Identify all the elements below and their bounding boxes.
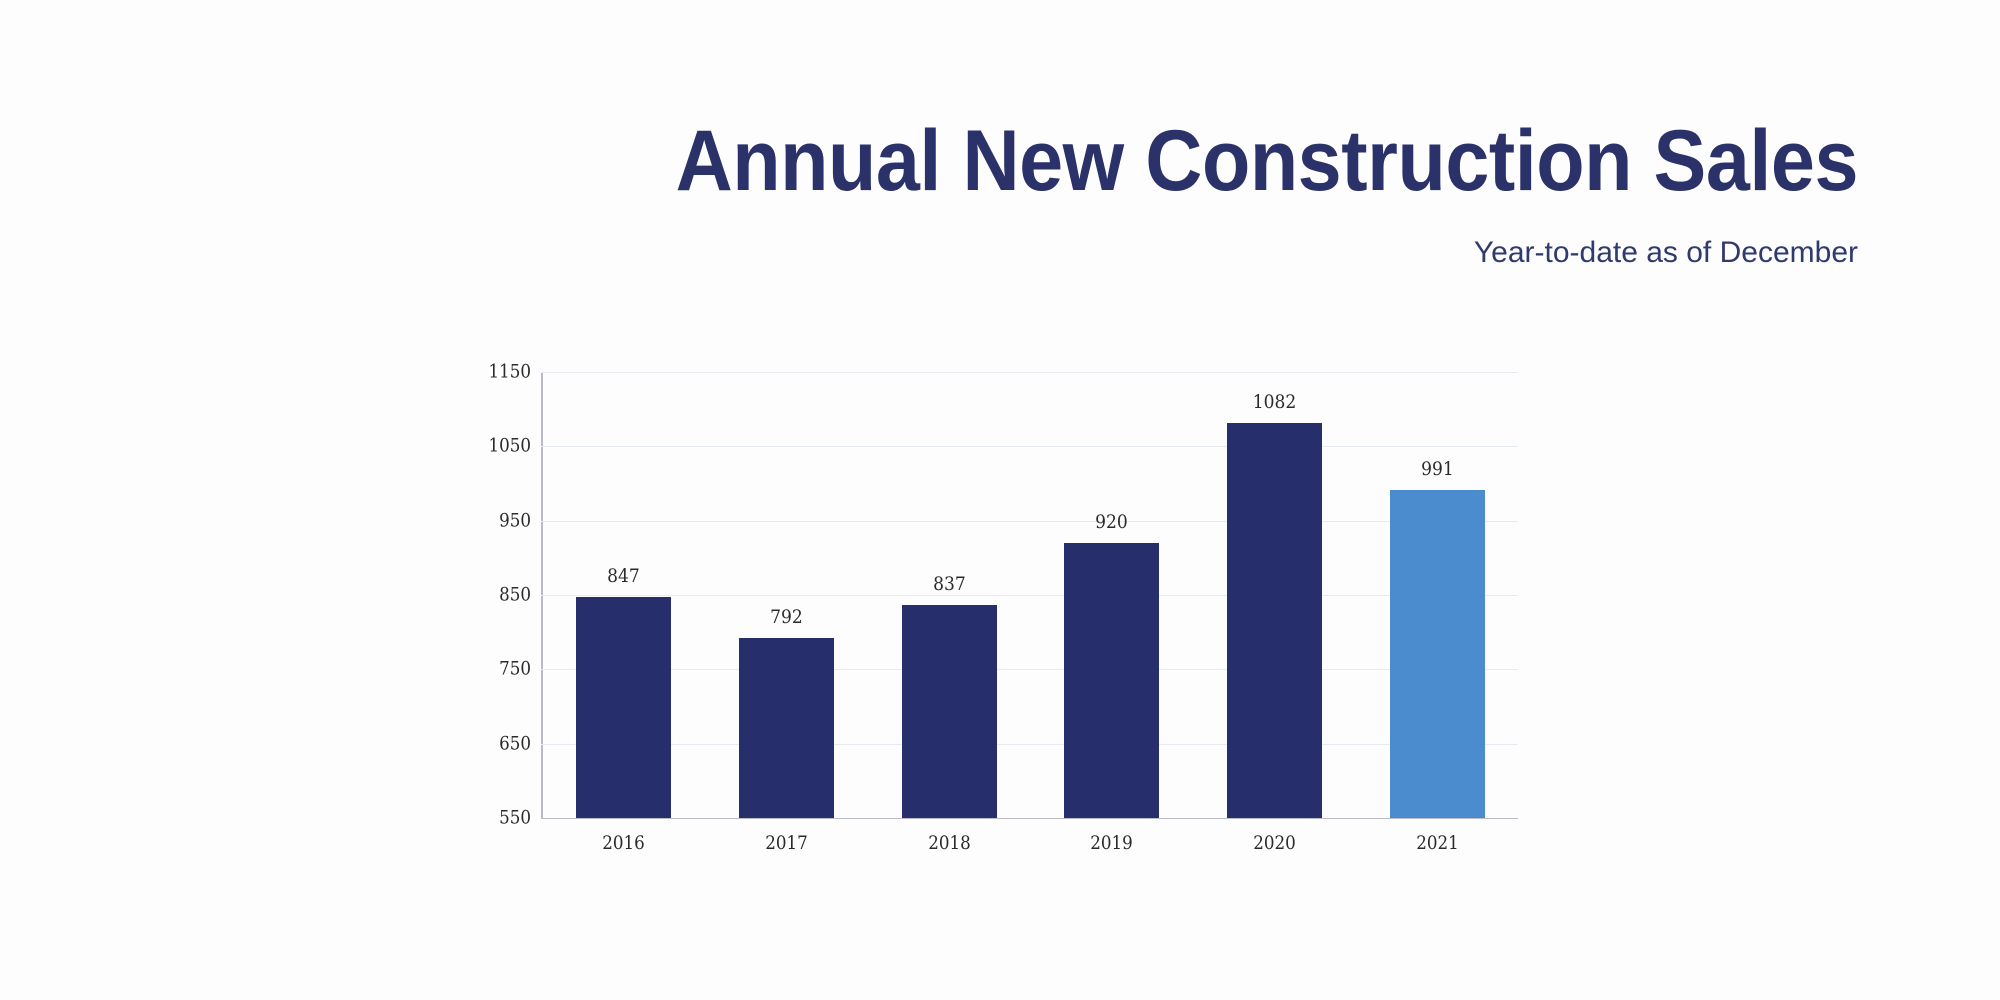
bar-value-label: 1082 — [1205, 393, 1345, 412]
x-axis-tick-label: 2020 — [1207, 834, 1343, 853]
x-axis-tick-label: 2016 — [555, 834, 691, 853]
gridline — [541, 818, 1518, 819]
bar-value-label: 792 — [717, 608, 857, 627]
y-axis-tick-label: 1050 — [461, 437, 531, 456]
plot-area: 8477928379201082991 — [541, 372, 1518, 818]
y-axis-tick-labels: 55065075085095010501150 — [447, 372, 531, 818]
gridline — [541, 669, 1518, 670]
x-axis-tick-label: 2019 — [1044, 834, 1180, 853]
gridline — [541, 744, 1518, 745]
y-axis-tick-label: 650 — [461, 734, 531, 753]
bar-2020[interactable] — [1227, 423, 1322, 818]
bar-value-label: 837 — [879, 575, 1019, 594]
bar-2016[interactable] — [576, 597, 671, 818]
bar-value-label: 847 — [554, 567, 694, 586]
x-axis-tick-label: 2017 — [718, 834, 854, 853]
gridline — [541, 595, 1518, 596]
bar-2019[interactable] — [1064, 543, 1159, 818]
gridline — [541, 521, 1518, 522]
x-axis-tick-label: 2018 — [881, 834, 1017, 853]
gridline — [541, 372, 1518, 373]
bar-value-label: 991 — [1368, 460, 1508, 479]
gridline — [541, 446, 1518, 447]
bar-chart: 55065075085095010501150 8477928379201082… — [0, 0, 2000, 1000]
y-axis-tick-label: 550 — [461, 809, 531, 828]
bar-2017[interactable] — [739, 638, 834, 818]
y-axis-tick-label: 1150 — [461, 363, 531, 382]
bar-value-label: 920 — [1042, 513, 1182, 532]
x-axis-tick-label: 2021 — [1369, 834, 1505, 853]
y-axis-tick-label: 850 — [461, 586, 531, 605]
bar-2018[interactable] — [902, 605, 997, 818]
bar-2021[interactable] — [1390, 490, 1485, 818]
y-axis-tick-label: 950 — [461, 511, 531, 530]
y-axis-tick-label: 750 — [461, 660, 531, 679]
